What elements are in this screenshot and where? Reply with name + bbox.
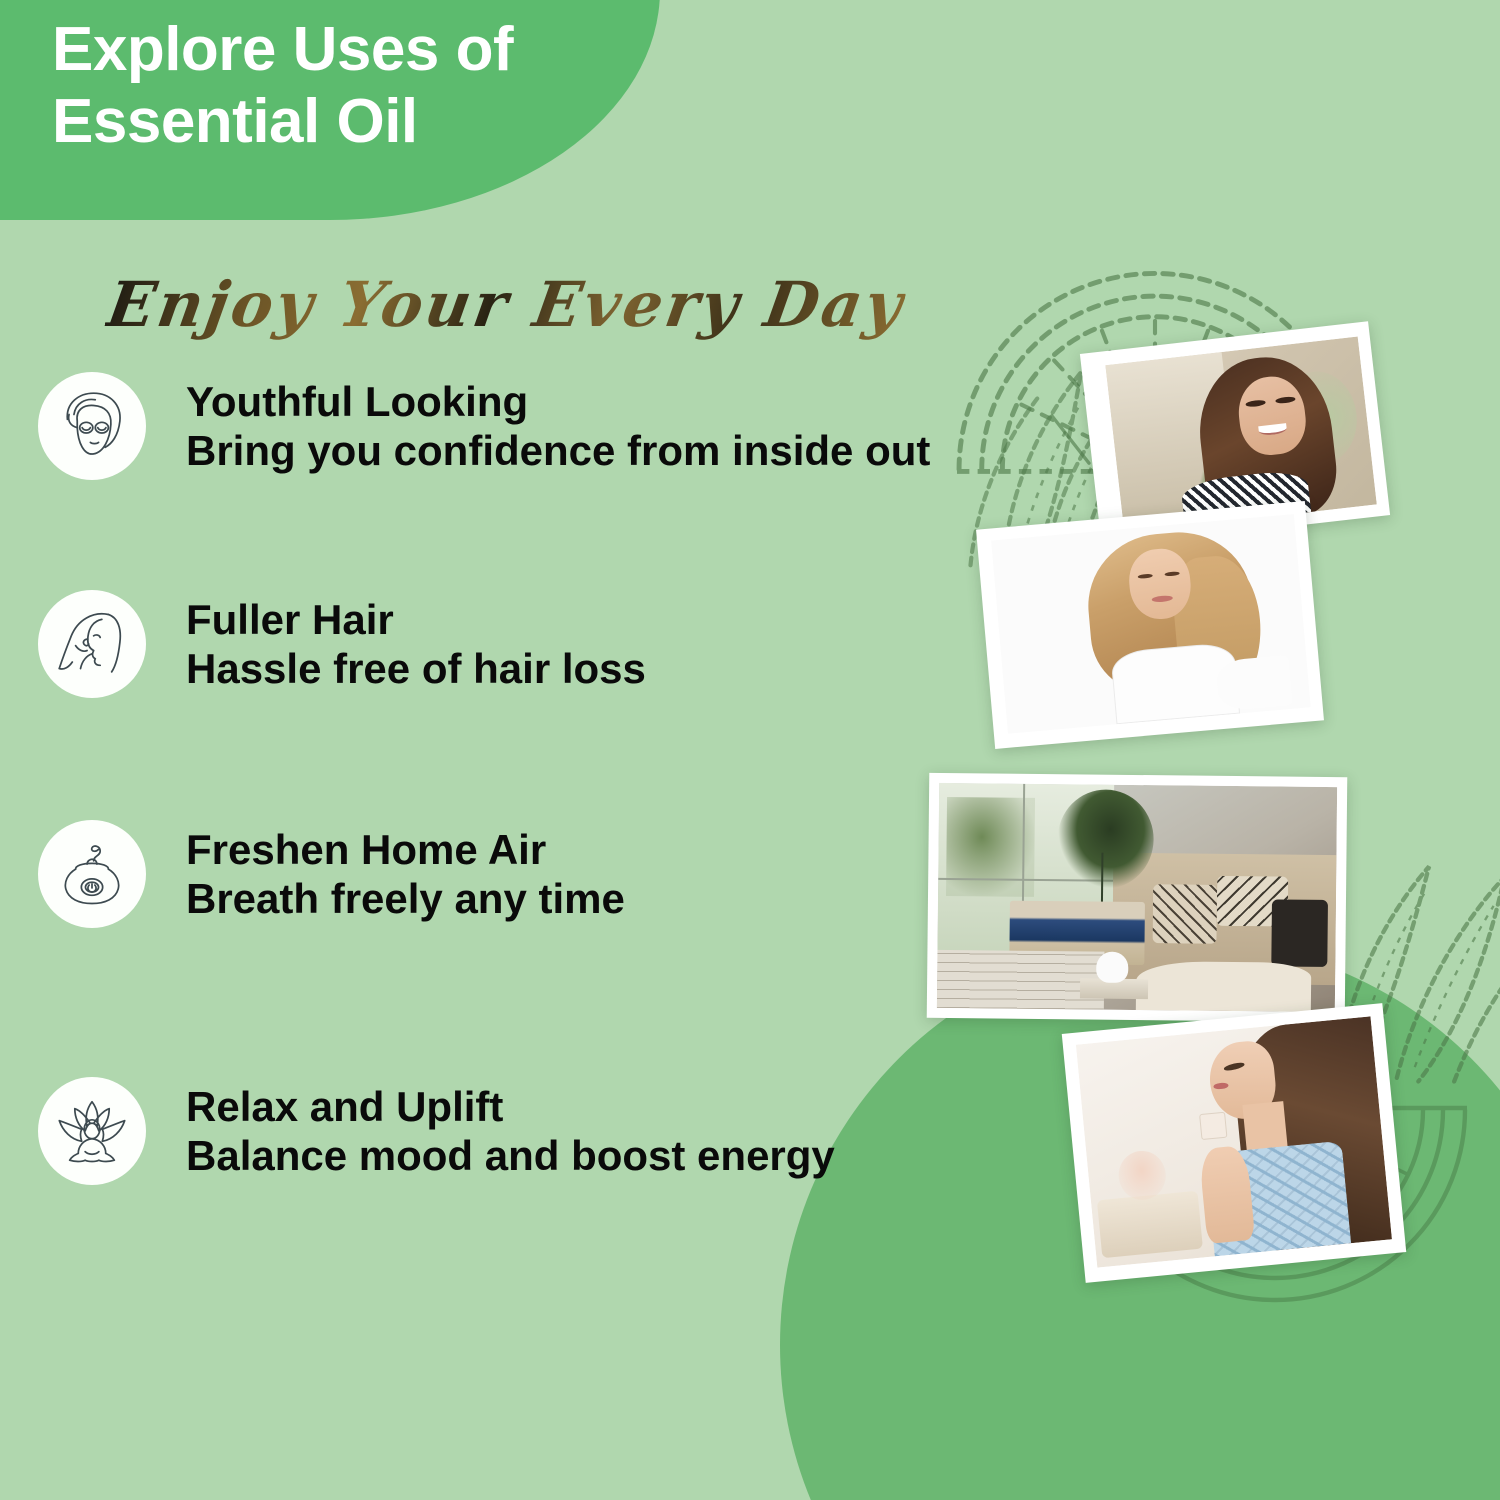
tagline-script-text: Enjoy Your Every Day [102,268,910,341]
photo-living-room [927,773,1348,1022]
page-title-line-1: Explore Uses of [52,14,672,86]
feature-title: Freshen Home Air [186,827,625,872]
infographic-poster: Explore Uses of Essential Oil Enjoy Your… [0,0,1500,1500]
lotus-meditation-icon [38,1077,146,1185]
photo-living-room-image [937,783,1337,1012]
feature-title: Youthful Looking [186,379,930,424]
feature-text-block: Fuller Hair Hassle free of hair loss [186,597,646,692]
feature-item-youthful-looking: Youthful Looking Bring you confidence fr… [38,372,930,480]
feature-text-block: Relax and Uplift Balance mood and boost … [186,1084,835,1179]
long-hair-profile-icon [38,590,146,698]
photo-perfume-woman-image [1076,1016,1392,1267]
photo-smiling-woman-image [1105,336,1376,533]
photo-wavy-blonde-hair-image [991,514,1311,734]
feature-text-block: Freshen Home Air Breath freely any time [186,827,625,922]
feature-subtitle: Balance mood and boost energy [186,1133,835,1178]
photo-wavy-blonde-hair [976,501,1324,749]
feature-title: Relax and Uplift [186,1084,835,1129]
feature-item-relax-and-uplift: Relax and Uplift Balance mood and boost … [38,1077,835,1185]
feature-subtitle: Bring you confidence from inside out [186,428,930,473]
feature-item-freshen-home-air: Freshen Home Air Breath freely any time [38,820,625,928]
page-title-line-2: Essential Oil [52,86,672,158]
feature-title: Fuller Hair [186,597,646,642]
feature-text-block: Youthful Looking Bring you confidence fr… [186,379,930,474]
feature-subtitle: Breath freely any time [186,876,625,921]
feature-subtitle: Hassle free of hair loss [186,646,646,691]
aroma-diffuser-icon [38,820,146,928]
face-mask-icon [38,372,146,480]
page-title: Explore Uses of Essential Oil [52,14,672,158]
feature-item-fuller-hair: Fuller Hair Hassle free of hair loss [38,590,646,698]
photo-perfume-woman [1062,1003,1406,1283]
